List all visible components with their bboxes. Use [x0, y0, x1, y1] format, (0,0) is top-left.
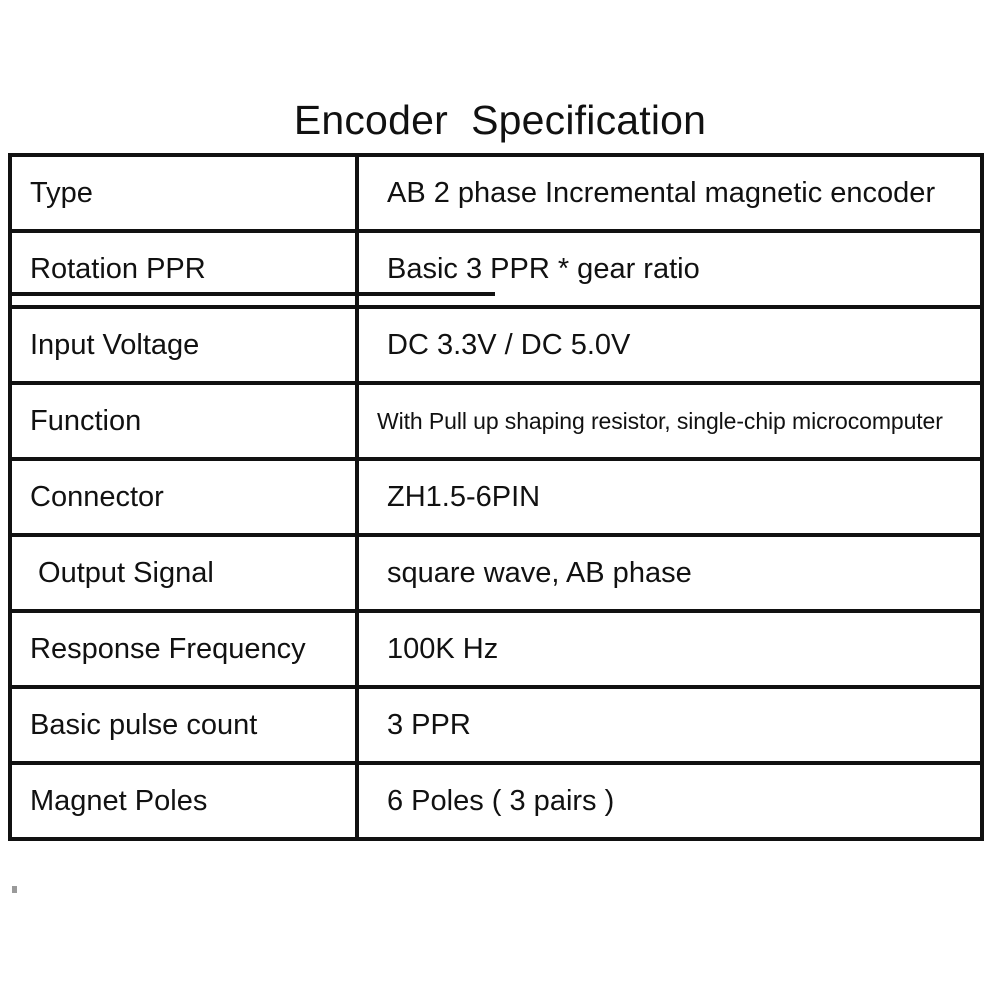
spec-value-cell: 6 Poles ( 3 pairs ) — [357, 763, 982, 839]
spec-label: Basic pulse count — [30, 708, 355, 742]
spec-value: 6 Poles ( 3 pairs ) — [377, 784, 980, 818]
table-row: Connector ZH1.5-6PIN — [10, 459, 982, 535]
table-row: Magnet Poles 6 Poles ( 3 pairs ) — [10, 763, 982, 839]
encoder-specification-table: Type AB 2 phase Incremental magnetic enc… — [8, 153, 984, 841]
spec-label-cell: Connector — [10, 459, 357, 535]
page-title: Encoder Specification — [0, 96, 1000, 144]
table-row: Basic pulse count 3 PPR — [10, 687, 982, 763]
spec-label-cell: Basic pulse count — [10, 687, 357, 763]
table-row: Output Signal square wave, AB phase — [10, 535, 982, 611]
spec-value-cell: square wave, AB phase — [357, 535, 982, 611]
spec-label: Response Frequency — [30, 632, 355, 666]
table-row: Input Voltage DC 3.3V / DC 5.0V — [10, 307, 982, 383]
scan-artifact-dot — [12, 886, 17, 893]
spec-value-cell: ZH1.5-6PIN — [357, 459, 982, 535]
spec-value-cell: AB 2 phase Incremental magnetic encoder — [357, 155, 982, 231]
table-body: Type AB 2 phase Incremental magnetic enc… — [10, 155, 982, 839]
spec-value: square wave, AB phase — [377, 556, 980, 590]
spec-value-cell: 100K Hz — [357, 611, 982, 687]
spec-value-cell: 3 PPR — [357, 687, 982, 763]
scan-artifact-rule — [8, 292, 495, 296]
spec-value: 100K Hz — [377, 632, 980, 666]
spec-value-cell: DC 3.3V / DC 5.0V — [357, 307, 982, 383]
spec-label-cell: Response Frequency — [10, 611, 357, 687]
spec-label: Rotation PPR — [30, 252, 355, 286]
spec-label: Input Voltage — [30, 328, 355, 362]
spec-label: Function — [30, 404, 355, 438]
spec-value: AB 2 phase Incremental magnetic encoder — [377, 176, 980, 210]
spec-label: Type — [30, 176, 355, 210]
spec-label: Magnet Poles — [30, 784, 355, 818]
spec-value: DC 3.3V / DC 5.0V — [377, 328, 980, 362]
table-row: Response Frequency 100K Hz — [10, 611, 982, 687]
spec-label: Connector — [30, 480, 355, 514]
spec-value: With Pull up shaping resistor, single-ch… — [377, 407, 980, 435]
table-row: Type AB 2 phase Incremental magnetic enc… — [10, 155, 982, 231]
table-row: Function With Pull up shaping resistor, … — [10, 383, 982, 459]
spec-label-cell: Input Voltage — [10, 307, 357, 383]
spec-value: 3 PPR — [377, 708, 980, 742]
spec-label-cell: Magnet Poles — [10, 763, 357, 839]
spec-label-cell: Output Signal — [10, 535, 357, 611]
spec-value-cell: With Pull up shaping resistor, single-ch… — [357, 383, 982, 459]
spec-label: Output Signal — [30, 556, 355, 590]
spec-label-cell: Type — [10, 155, 357, 231]
spec-value: ZH1.5-6PIN — [377, 480, 980, 514]
spec-label-cell: Function — [10, 383, 357, 459]
spec-value: Basic 3 PPR * gear ratio — [377, 252, 980, 286]
document-page: Encoder Specification Type AB 2 phase In… — [0, 0, 1000, 1000]
